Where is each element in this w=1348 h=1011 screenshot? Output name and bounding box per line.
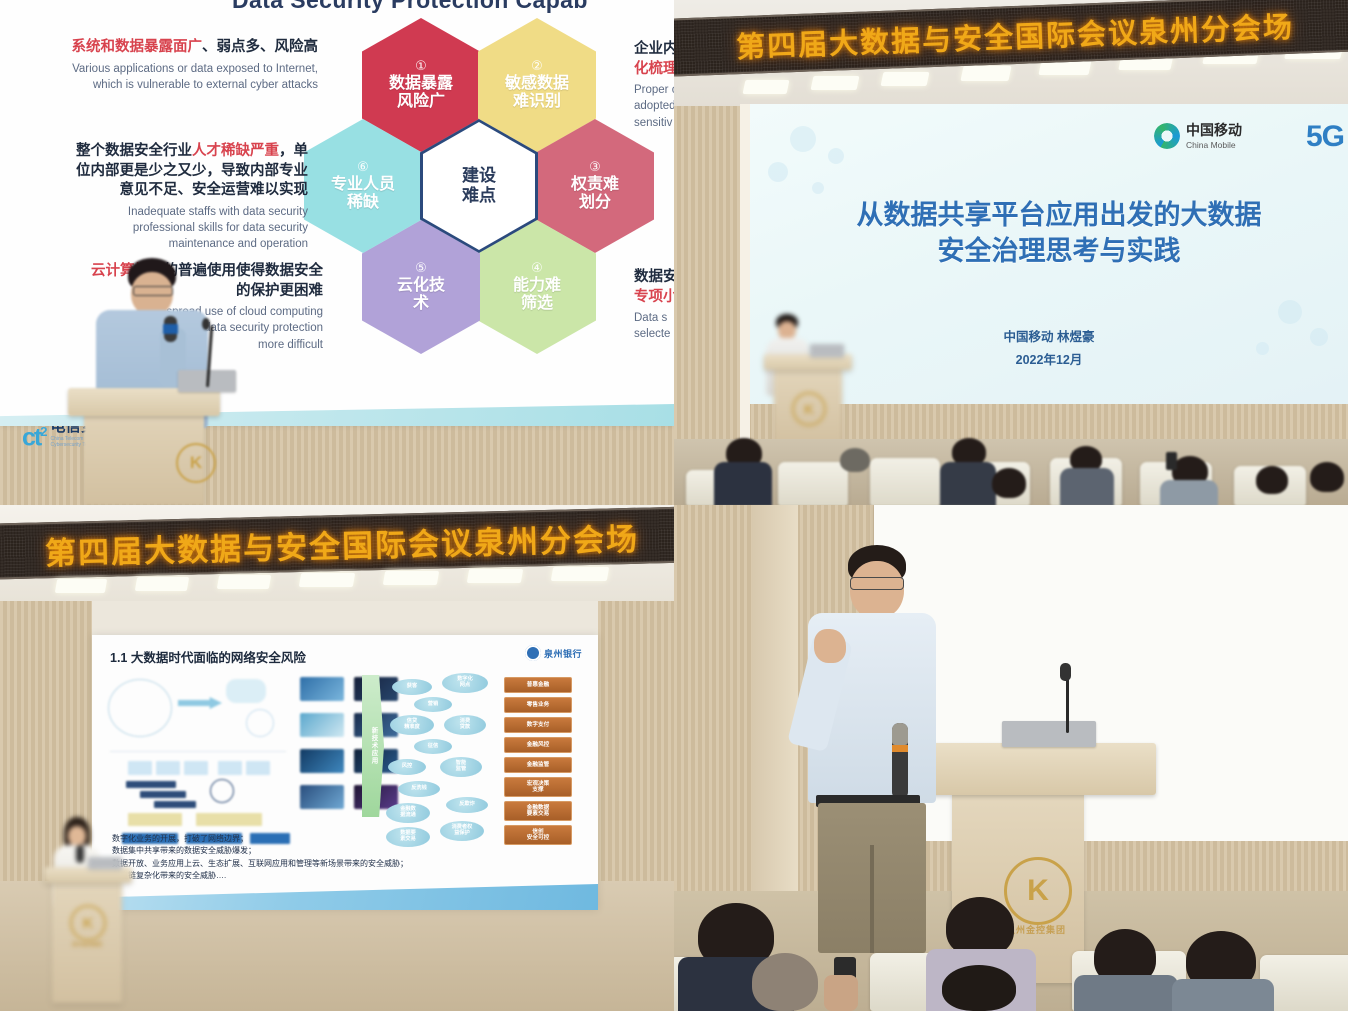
orange-box: 金融风控: [504, 737, 572, 753]
podium-logo-sub-panel3: 泉州金控集团: [56, 941, 118, 948]
led-banner-text-2: 第四届大数据与安全国际会议泉州分会场: [45, 513, 640, 572]
hexagon-2-number: ②: [531, 59, 543, 74]
caption-exposure-rest: 、弱点多、风险高: [202, 39, 318, 55]
ceiling-light: [551, 567, 609, 581]
hexagon-5-label: 云化技 术: [397, 277, 445, 313]
speaker3-mic: [76, 845, 84, 863]
ceiling-light: [299, 573, 355, 587]
laptop-panel4: [1002, 721, 1096, 747]
hexagon-2-label: 敏感数据 难识别: [505, 75, 569, 111]
green-arrow-label: 新技术应用: [368, 727, 378, 765]
gooseneck-mic-head: [1060, 663, 1071, 681]
bank-logo-icon: [525, 645, 541, 661]
slide3-title: 1.1 大数据时代面临的网络安全风险: [110, 647, 306, 666]
ellipse-item: 营销: [414, 697, 452, 712]
hexagon-4-number: ④: [531, 261, 543, 276]
slide3-left-diagram: [106, 673, 292, 823]
ellipse-item: 风控: [388, 759, 426, 775]
caption-staff-en: Inadequate staffs with data security pro…: [8, 204, 308, 253]
ellipse-item: 反欺诈: [446, 797, 488, 813]
caption-staff-emphasis: 人才稀缺严重: [192, 143, 279, 159]
panel-top-left: Data Security Protection Capab ① 数据暴露 风险…: [0, 0, 674, 505]
speaker-panel4: [794, 545, 984, 955]
china-mobile-icon: [1154, 123, 1180, 149]
hexagon-3-label: 权责难 划分: [571, 176, 619, 212]
caption-staff: 整个数据安全行业人才稀缺严重，单 位内部更是少之又少，导致内部专业 意见不足、安…: [8, 142, 308, 253]
hexagon-1-label: 数据暴露 风险广: [389, 75, 453, 111]
mic-head-panel1: [202, 318, 210, 330]
caption-exposure-emphasis: 系统和数据暴露面广: [72, 39, 203, 55]
hexagon-center-line1: 建设: [462, 166, 496, 186]
caption-exposure-cn: 系统和数据暴露面广、弱点多、风险高: [18, 38, 318, 58]
ellipse-item: 消费 贷款: [444, 715, 486, 735]
door-frame: [740, 104, 750, 440]
gooseneck-mic-panel4: [1066, 673, 1069, 733]
hexagon-diagram: ① 数据暴露 风险广 ② 敏感数据 难识别 ③ 权责难 划分 ④ 能力难 筛选: [326, 18, 656, 358]
china-mobile-logo: 中国移动 China Mobile: [1154, 122, 1242, 150]
ceiling-light: [811, 76, 860, 90]
ellipse-item: 智能 监管: [440, 757, 482, 777]
speaker4-leg-split: [870, 845, 874, 953]
caption-staff-pre: 整个数据安全行业: [76, 143, 192, 159]
slide-bank-risk: 1.1 大数据时代面临的网络安全风险 泉州银行: [92, 635, 598, 910]
orange-box: 金融数据 要素交易: [504, 801, 572, 821]
caption-special-en: Data s selecte: [634, 310, 674, 343]
hexagon-1-number: ①: [415, 59, 427, 74]
orange-box: 普惠金融: [504, 677, 572, 693]
podium-logo-panel2: K: [792, 392, 826, 426]
five-g-logo: 5G: [1306, 120, 1344, 154]
speaker4-face: [850, 561, 904, 619]
speaker-glasses: [133, 286, 173, 296]
speaker4-glasses: [850, 577, 904, 590]
caption-enterprise-cn: 企业内 化梳理: [634, 40, 674, 79]
slide3-bullets: 数字化业务的开展，打破了网络边界； 数据集中共享带来的数据安全威胁爆发； 数据开…: [112, 833, 582, 883]
speaker4-mic-band: [892, 745, 908, 752]
caption-exposure-en: Various applications or data exposed to …: [18, 61, 318, 94]
slide2-title: 从数据共享平台应用出发的大数据 安全治理思考与实践: [770, 198, 1348, 269]
photo-collage: Data Security Protection Capab ① 数据暴露 风险…: [0, 0, 1348, 1011]
caption-special: 数据安专项小 Data s selecte: [634, 268, 674, 343]
ellipse-item: 获客: [392, 679, 432, 695]
speaker4-hand: [814, 629, 846, 663]
podium-logo-panel3: K: [70, 905, 106, 941]
hexagon-3-number: ③: [589, 160, 601, 175]
hexagon-5-number: ⑤: [415, 261, 427, 276]
laptop-panel3: [88, 857, 122, 869]
laptop-panel2: [810, 344, 844, 357]
panel-bottom-left: 第四届大数据与安全国际会议泉州分会场 1.1 大数据时代面临的网络安全风险 泉州…: [0, 505, 674, 1011]
podium-logo-panel1: K: [176, 443, 216, 483]
hexagon-center-line2: 难点: [462, 186, 496, 206]
hand-holding-phone: [824, 975, 858, 1011]
ellipse-item: 数字化 网点: [442, 673, 488, 693]
slide3-footer-wave: [92, 884, 598, 910]
caption-staff-cn: 整个数据安全行业人才稀缺严重，单 位内部更是少之又少，导致内部专业 意见不足、安…: [8, 142, 308, 201]
speaker4-mic-grille: [892, 723, 908, 745]
ellipse-item: 金融数 据流通: [386, 803, 430, 823]
speaker3-face: [68, 826, 86, 846]
ceiling-light: [881, 72, 930, 86]
ellipse-item: 反洗钱: [398, 781, 440, 797]
ct-logo-letters: ct: [22, 423, 40, 451]
podium-top-panel1: [68, 388, 220, 416]
ceiling-light: [383, 571, 439, 585]
caption-exposure: 系统和数据暴露面广、弱点多、风险高 Various applications o…: [18, 38, 318, 93]
phone-held-up: [1166, 452, 1177, 470]
ceiling-light: [467, 569, 523, 583]
ct-logo-mark: ct2: [22, 426, 45, 449]
caption-special-pre: 数据安: [634, 269, 674, 285]
caption-enterprise-en: Proper c adopted sensitiv: [634, 82, 674, 131]
orange-box: 零售业务: [504, 697, 572, 713]
podium-top-panel3: [44, 867, 132, 883]
speaker-mic-label: [163, 324, 178, 334]
ceiling-light: [135, 577, 189, 591]
hexagon-6-number: ⑥: [357, 160, 369, 175]
orange-box: 数字支付: [504, 717, 572, 733]
ellipse-item: 征信: [414, 739, 452, 754]
caption-special-cn: 数据安专项小: [634, 268, 674, 307]
caption-enterprise: 企业内 化梳理 Proper c adopted sensitiv: [634, 40, 674, 131]
caption-special-emphasis: 专项小: [634, 289, 674, 305]
china-mobile-en: China Mobile: [1186, 140, 1242, 150]
ceiling-light: [55, 579, 107, 593]
china-mobile-zh: 中国移动: [1186, 122, 1242, 138]
caption-enterprise-post: 化梳理: [634, 61, 674, 77]
panel-bottom-right: K 泉州金控集团: [674, 505, 1348, 1011]
hexagon-4-label: 能力难 筛选: [513, 277, 561, 313]
slide-title: Data Security Protection Capab: [232, 0, 674, 14]
orange-box: 金融监管: [504, 757, 572, 773]
caption-enterprise-pre: 企业内: [634, 41, 674, 57]
ceiling-light: [743, 80, 790, 94]
ceiling-light: [217, 575, 271, 589]
hexagon-6-label: 专业人员 稀缺: [331, 176, 395, 212]
podium-logo-panel4: K: [1004, 857, 1072, 925]
bank-logo-text: 泉州银行: [544, 647, 582, 660]
quanzhou-bank-logo: 泉州银行: [525, 645, 582, 661]
china-mobile-text: 中国移动 China Mobile: [1186, 122, 1242, 150]
ceiling-light: [960, 66, 1011, 81]
panel-top-right: 第四届大数据与安全国际会议泉州分会场 中国移动 China Mobile: [674, 0, 1348, 505]
ellipse-item: 信贷 精准度: [390, 715, 434, 735]
orange-box: 宏观决策 支撑: [504, 777, 572, 797]
